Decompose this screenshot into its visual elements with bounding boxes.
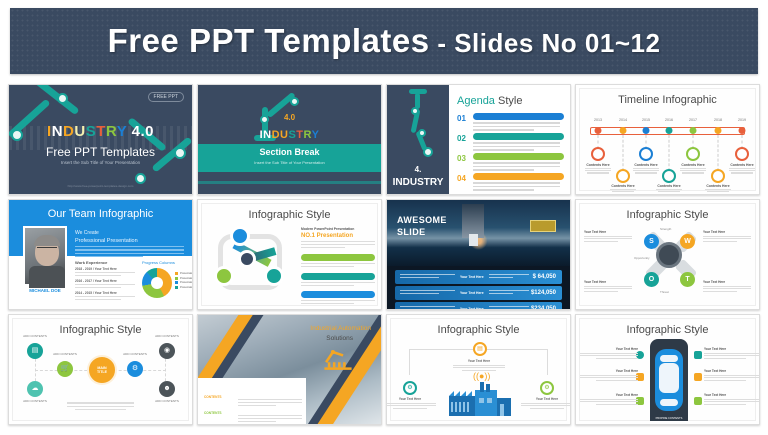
agenda-pill: Contents Title xyxy=(473,173,564,180)
agenda-body xyxy=(473,142,560,151)
job-entry: 2016 - 2017 / Your Text Here xyxy=(75,279,135,289)
slide-title: Free PPT Templates xyxy=(9,145,192,159)
slide-title: Agenda Style xyxy=(457,95,522,107)
target-node-blue[interactable] xyxy=(230,226,250,246)
glasses-icon xyxy=(37,247,57,252)
timeline-year: 2013 xyxy=(594,118,602,122)
letter-t: T xyxy=(96,123,106,140)
page-title-sub: - Slides No 01~12 xyxy=(430,28,661,58)
timeline-stem xyxy=(718,135,719,171)
car-roof xyxy=(659,363,679,393)
row-body xyxy=(395,290,455,296)
agenda-body xyxy=(473,122,560,131)
timeline-dot xyxy=(620,127,627,134)
page-header-banner: Free PPT Templates - Slides No 01~12 xyxy=(10,8,758,74)
feature-item: Your Text Here xyxy=(580,347,638,361)
joint-icon xyxy=(290,97,299,106)
chart-legend: Presentation Presentation Presentation P… xyxy=(175,272,193,290)
timeline-node[interactable] xyxy=(662,169,676,183)
brand-part-t: T xyxy=(296,129,303,141)
row-body xyxy=(489,274,529,280)
letter-r: R xyxy=(106,123,117,140)
timeline-stem xyxy=(669,135,670,171)
slide-thumbnail-3[interactable]: 4. INDUSTRY Agenda Style 01 Contents Tit… xyxy=(386,84,571,195)
agenda-number: 03 xyxy=(457,154,466,163)
row-price: $124,050 xyxy=(529,290,562,296)
brand-part-du: DU xyxy=(272,129,289,141)
kicker-text: Modern PowerPoint Presentation xyxy=(301,227,354,231)
timeline-node[interactable] xyxy=(639,147,653,161)
headline: NO.1 Presentation xyxy=(301,233,353,239)
work-experience-heading: Work Experience xyxy=(75,260,107,265)
version-label: 4.0 xyxy=(198,113,381,122)
slide-thumbnail-11[interactable]: Infographic Style ▤ Your Text Here ⚙ You… xyxy=(386,314,571,425)
agenda-number: 01 xyxy=(457,114,466,123)
timeline-dot xyxy=(595,127,602,134)
avatar xyxy=(23,226,67,286)
slide-grid: FREE PPT INDUSTRY 4.0 Free PPT Templates… xyxy=(8,84,762,429)
row-label: Your Text Here xyxy=(455,275,488,279)
content-bar: Contents Title xyxy=(301,254,375,261)
industry-wordmark: INDUSTRY xyxy=(198,129,381,141)
center-node[interactable]: MAIN TITLE xyxy=(87,355,117,385)
timeline-caption: Contents Here xyxy=(582,163,614,175)
node-label: ADD CONTENTS xyxy=(17,334,53,338)
node-label: ADD CONTENTS xyxy=(47,352,83,356)
timeline-year: 2016 xyxy=(665,118,673,122)
slide-title: Section Break xyxy=(198,147,381,157)
timeline-caption: Contents Here xyxy=(607,184,639,193)
node-label: ADD CONTENTS xyxy=(17,399,53,403)
joint-icon xyxy=(411,107,419,115)
title-line-2: Solutions xyxy=(326,335,353,342)
phone-icon[interactable] xyxy=(694,351,702,359)
agenda-number: 02 xyxy=(457,134,466,143)
timeline-year: 2015 xyxy=(642,118,650,122)
brand-part-y: Y xyxy=(312,129,320,141)
content-body xyxy=(301,263,375,269)
job-entry: 2014 - 2015 / Your Text Here xyxy=(75,291,135,301)
timeline-dot xyxy=(715,127,722,134)
timeline-node[interactable] xyxy=(616,169,630,183)
car-windshield xyxy=(660,355,678,362)
letter-u: U xyxy=(74,123,85,140)
swot-label-opportunity: Opportunity xyxy=(634,256,650,260)
side-brand: INDUSTRY xyxy=(387,177,449,188)
timeline-year: 2014 xyxy=(619,118,627,122)
timeline-node[interactable] xyxy=(591,147,605,161)
agenda-body xyxy=(473,182,560,191)
agenda-row[interactable]: 03 Contents Title xyxy=(457,153,564,172)
triangle-diagram xyxy=(212,228,288,294)
slide-thumbnail-12[interactable]: Infographic Style PROPRIE CONTENTS Your … xyxy=(575,314,760,425)
agenda-number: 04 xyxy=(457,174,466,183)
timeline-node[interactable] xyxy=(735,147,749,161)
legend-item: Presentation xyxy=(175,272,193,275)
swot-label-strength: Strength xyxy=(660,227,671,231)
gear-icon[interactable]: ⚙ xyxy=(540,381,554,395)
slide-gallery-page: Free PPT Templates - Slides No 01~12 FRE… xyxy=(0,0,768,435)
document-icon[interactable]: ▤ xyxy=(473,342,487,356)
gear-icon[interactable]: ⚙ xyxy=(403,381,417,395)
title-line-1: Industrial Automation xyxy=(310,325,371,332)
slide-thumbnail-8[interactable]: Infographic Style S W O T Strength Oppor… xyxy=(575,199,760,310)
side-version: 4. xyxy=(387,165,449,174)
agenda-pill: Contents Title xyxy=(473,113,564,120)
agenda-pill: Contents Title xyxy=(473,133,564,140)
timeline-dot xyxy=(739,127,746,134)
agenda-body xyxy=(473,162,560,171)
robot-arm-icon xyxy=(321,345,355,371)
swot-hub xyxy=(656,242,682,268)
gear-icon[interactable]: ⚙ xyxy=(127,361,143,377)
slide-title: Infographic Style xyxy=(198,209,381,221)
lead-line-2: Professional Presentation xyxy=(75,238,138,244)
slide-thumbnail-10[interactable]: Industrial Automation Solutions CONTENTS xyxy=(197,314,382,425)
legend-item: Presentation xyxy=(175,286,193,289)
joint-icon xyxy=(135,173,146,184)
swot-node-t[interactable]: T xyxy=(680,272,695,287)
cloud-icon[interactable] xyxy=(694,373,702,381)
lead-line-1: We Create xyxy=(75,230,99,236)
price-row[interactable]: Your Text Here $ 64,050 xyxy=(395,270,562,284)
content-body xyxy=(301,282,375,288)
slide-title: Timeline Infographic xyxy=(576,94,759,106)
target-node-green[interactable] xyxy=(214,266,234,286)
swot-text-block: Your Text Here xyxy=(584,230,632,244)
title-accent: Agenda xyxy=(457,95,495,107)
legend-item: Presentation xyxy=(175,277,193,280)
factory-illustration xyxy=(449,382,511,416)
agenda-row[interactable]: 01 Contents Title xyxy=(457,113,564,132)
feature-item: TEXT xyxy=(204,415,302,425)
content-body xyxy=(301,300,375,306)
wifi-icon: ((●)) xyxy=(473,371,490,381)
letter-s: S xyxy=(86,123,97,140)
slide-title: Infographic Style xyxy=(387,324,570,336)
row-label: Your Text Here xyxy=(455,291,488,295)
swot-text-block: Your Text Here xyxy=(584,280,632,294)
cart-icon[interactable]: 🛒 xyxy=(57,361,73,377)
letter-y: Y xyxy=(117,123,127,140)
legend-item: Presentation xyxy=(175,281,193,284)
industry-wordmark: INDUSTRY 4.0 xyxy=(9,123,192,140)
slide-title: Infographic Style xyxy=(576,324,759,336)
slide-title: Our Team Infographic xyxy=(9,208,192,220)
timeline-node[interactable] xyxy=(711,169,725,183)
price-row[interactable]: Your Text Here $234,050 xyxy=(395,302,562,310)
target-node-teal[interactable] xyxy=(264,266,284,286)
timeline-caption: Contents Here xyxy=(653,184,685,193)
swot-node-s[interactable]: S xyxy=(644,234,659,249)
center-line-2: TITLE xyxy=(97,370,107,374)
car-illustration xyxy=(655,349,683,411)
agenda-row[interactable]: 02 Contents Title xyxy=(457,133,564,152)
users-icon[interactable]: ☻ xyxy=(159,381,175,397)
footer-url: http://www.free-powerpoint-templates-des… xyxy=(9,184,192,188)
timeline-year: 2019 xyxy=(738,118,746,122)
row-body xyxy=(395,306,455,310)
brand-part-r: R xyxy=(304,129,312,141)
letter-d: D xyxy=(63,123,74,140)
speaker-icon[interactable]: ◉ xyxy=(159,343,175,359)
slide-thumbnail-1[interactable]: FREE PPT INDUSTRY 4.0 Free PPT Templates… xyxy=(8,84,193,195)
slide-subtitle: Insert the Sub Title of Your Presentatio… xyxy=(9,160,192,165)
swot-text-block: Your Text Here xyxy=(703,280,751,294)
lead-body xyxy=(75,246,184,259)
page-title: Free PPT Templates - Slides No 01~12 xyxy=(108,22,661,60)
timeline-stem xyxy=(623,135,624,171)
timeline-dot xyxy=(666,127,673,134)
feature-item: Your Text Here xyxy=(580,393,638,407)
price-row[interactable]: Your Text Here $124,050 xyxy=(395,286,562,300)
slide-thumbnail-4[interactable]: Timeline Infographic 2013 Contents Here … xyxy=(575,84,760,195)
letter-n: N xyxy=(52,123,63,140)
person-name: MICHAEL DOE xyxy=(23,288,67,293)
node-label: ADD CONTENTS xyxy=(149,334,185,338)
row-label: Your Text Here xyxy=(455,307,488,310)
feature-item: Your Text Here xyxy=(704,393,760,407)
timeline-dot xyxy=(690,127,697,134)
node-label: ADD CONTENTS xyxy=(149,399,185,403)
avatar-hair xyxy=(34,235,60,246)
title-part-a: Industrial xyxy=(310,325,338,332)
section-band-accent xyxy=(198,181,381,184)
slide-thumbnail-9[interactable]: Infographic Style MAIN TITLE ▤ ADD CONTE… xyxy=(8,314,193,425)
swot-text-block: Your Text Here xyxy=(703,230,751,244)
slide-subtitle: Insert the Sub Title of Your Presentatio… xyxy=(198,160,381,165)
joint-icon xyxy=(57,93,68,104)
progress-columns-heading: Progress Columns xyxy=(142,260,175,265)
row-price: $ 64,050 xyxy=(529,274,562,280)
version-label: 4.0 xyxy=(127,123,154,140)
title-rest: Style xyxy=(495,95,523,107)
swot-node-o[interactable]: O xyxy=(644,272,659,287)
node-caption: Your Text Here xyxy=(521,397,571,411)
page-title-main: Free PPT Templates xyxy=(108,22,430,59)
timeline-caption: Contents Here xyxy=(630,163,662,175)
donut-chart xyxy=(142,268,172,298)
timeline-caption: Contents Here xyxy=(726,163,758,175)
target-node-dark[interactable] xyxy=(238,250,256,268)
machine-nozzle xyxy=(469,234,478,246)
slide-thumbnail-5[interactable]: Our Team Infographic MICHAEL DOE We Crea… xyxy=(8,199,193,310)
row-price: $234,050 xyxy=(529,306,562,310)
slide-title: AWESOME SLIDE xyxy=(397,214,447,238)
cloud-icon[interactable]: ☁ xyxy=(27,381,43,397)
battery-icon[interactable] xyxy=(694,397,702,405)
joint-icon xyxy=(418,129,426,137)
agenda-side-panel: 4. INDUSTRY xyxy=(387,85,449,194)
row-body xyxy=(489,290,529,296)
feature-item: Your Text Here xyxy=(580,369,638,383)
row-body xyxy=(489,306,529,310)
node-caption: Your Text Here xyxy=(386,397,436,411)
swot-node-w[interactable]: W xyxy=(680,234,695,249)
timeline-caption: Contents Here xyxy=(702,184,734,193)
avatar-body xyxy=(29,266,65,288)
row-body xyxy=(395,274,455,280)
gear-icon xyxy=(423,147,433,157)
slide-thumbnail-7[interactable]: AWESOME SLIDE Your Text Here $ 64,050 Yo… xyxy=(386,199,571,310)
content-bar: Contents Title xyxy=(301,273,375,280)
footer-body xyxy=(61,402,140,412)
slide-thumbnail-2[interactable]: 4.0 INDUSTRY Section Break Insert the Su… xyxy=(197,84,382,195)
brand-part-in: IN xyxy=(260,129,272,141)
title-line-2: SLIDE xyxy=(397,227,426,237)
content-bar: Contents Title xyxy=(301,291,375,298)
car-rear-window xyxy=(660,399,678,406)
timeline-caption: Contents Here xyxy=(677,163,709,175)
title-line-1: AWESOME xyxy=(397,215,447,225)
node-label: ADD CONTENTS xyxy=(117,352,153,356)
machine-head xyxy=(462,204,484,238)
job-entry: 2018 - 2019 / Your Text Here xyxy=(75,267,135,277)
timeline-year: 2017 xyxy=(689,118,697,122)
agenda-row[interactable]: 04 Contents Title xyxy=(457,173,564,192)
free-ppt-logo: FREE PPT xyxy=(148,92,184,102)
timeline-year: 2018 xyxy=(714,118,722,122)
timeline-node[interactable] xyxy=(686,147,700,161)
agenda-pill: Contents Title xyxy=(473,153,564,160)
feature-item: Your Text Here xyxy=(704,347,760,361)
slide-thumbnail-6[interactable]: Infographic Style Modern PowerPoint Pres… xyxy=(197,199,382,310)
timeline-dot xyxy=(643,127,650,134)
swot-label-threat: Threat xyxy=(660,290,669,294)
control-panel xyxy=(530,220,556,232)
intro-body xyxy=(301,241,375,249)
license-plate: PROPRIE CONTENTS xyxy=(650,417,688,420)
feature-item: Your Text Here xyxy=(704,369,760,383)
monitor-icon[interactable]: ▤ xyxy=(27,343,43,359)
slide-title: Infographic Style xyxy=(576,209,759,221)
title-part-b: Automation xyxy=(338,325,371,332)
